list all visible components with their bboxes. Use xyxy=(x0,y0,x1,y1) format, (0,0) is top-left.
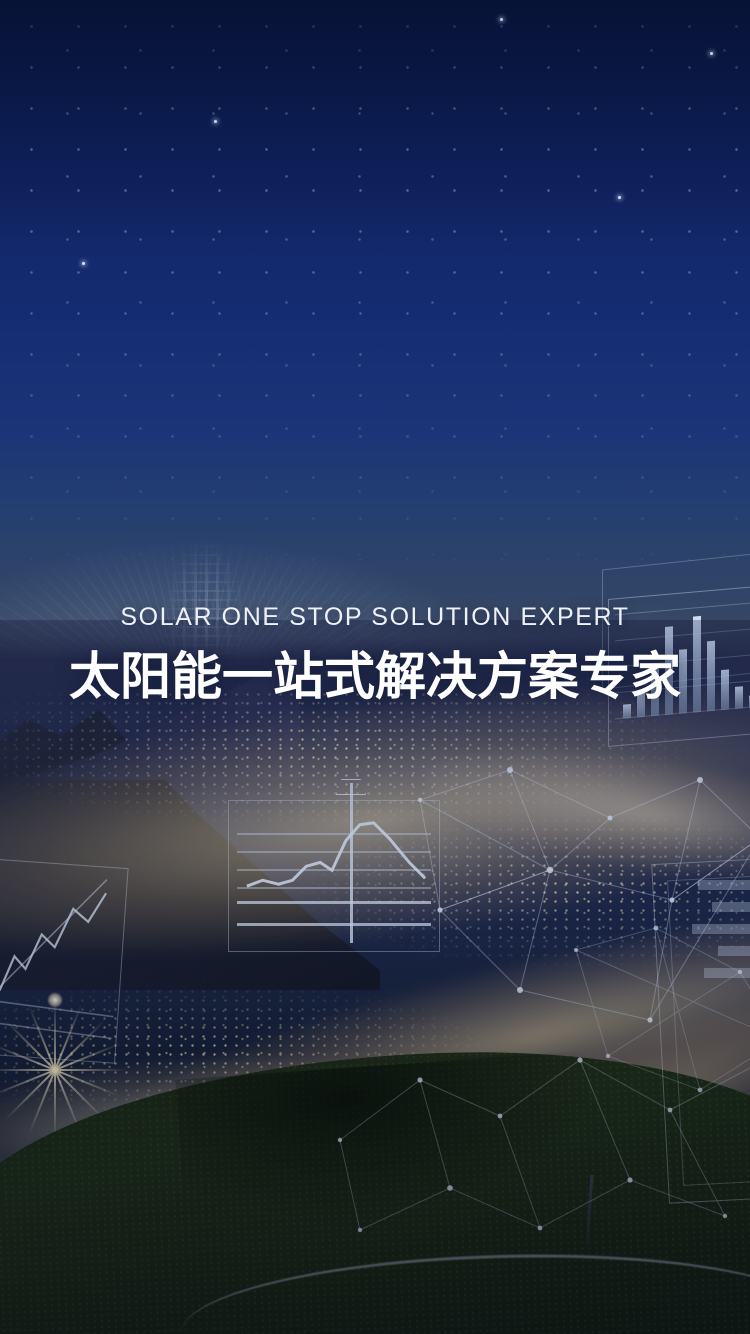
banner-eyebrow: SOLAR ONE STOP SOLUTION EXPERT xyxy=(0,600,750,634)
hero-banner: SOLAR ONE STOP SOLUTION EXPERT 太阳能一站式解决方… xyxy=(0,0,750,1334)
hero-copy: SOLAR ONE STOP SOLUTION EXPERT 太阳能一站式解决方… xyxy=(0,600,750,708)
page-title: 太阳能一站式解决方案专家 xyxy=(0,646,750,708)
